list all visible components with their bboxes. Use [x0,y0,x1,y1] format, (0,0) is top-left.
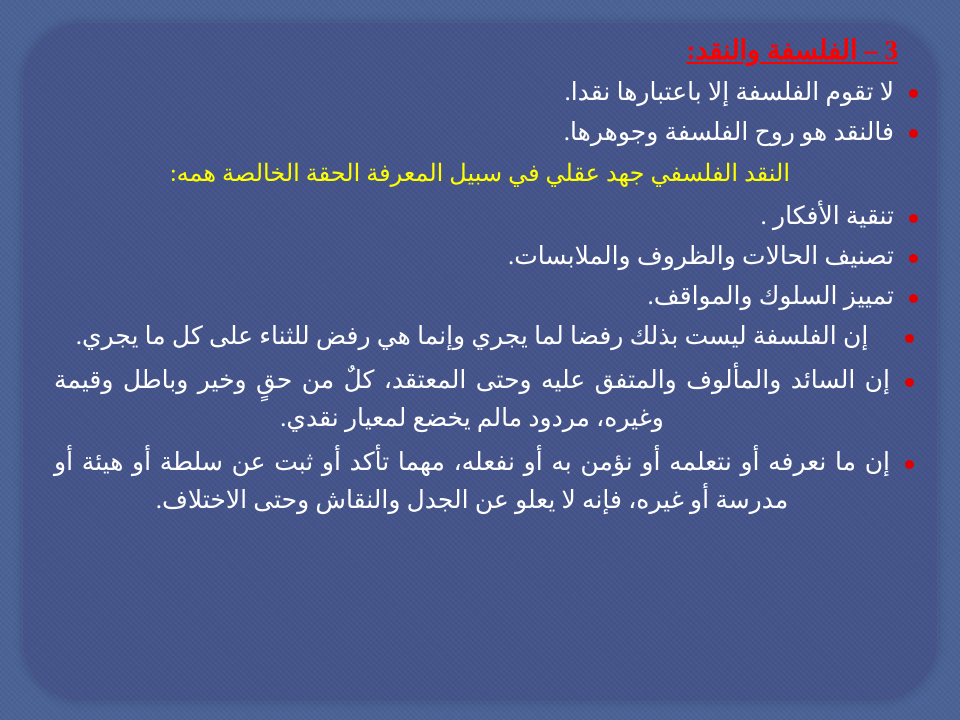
bullet-item: إن الفلسفة ليست بذلك رفضا لما يجري وإنما… [40,318,920,356]
bullet-item: تصنيف الحالات والظروف والملابسات. [40,238,920,276]
slide-title: 3 – الفلسفة والنقد: [40,36,898,66]
bullet-dot-icon [909,254,918,263]
lead-in-text: النقد الفلسفي جهد عقلي في سبيل المعرفة ا… [40,156,920,192]
bullet-item: إن ما نعرفه أو نتعلمه أو نؤمن به أو نفعل… [40,444,920,520]
bullet-item-label: فالنقد هو روح الفلسفة وجوهرها. [564,119,894,146]
bullet-item-label: إن السائد والمألوف والمتفق عليه وحتى الم… [54,367,890,432]
bullet-item: فالنقد هو روح الفلسفة وجوهرها. [40,114,920,152]
bullet-item: إن السائد والمألوف والمتفق عليه وحتى الم… [40,362,920,438]
bullet-item: تنقية الأفكار . [40,198,920,236]
bullet-dot-icon [909,89,918,98]
bullet-dot-icon [905,378,914,387]
bullet-dot-icon [909,129,918,138]
bullet-dot-icon [909,294,918,303]
bullet-item-label: تنقية الأفكار . [761,203,895,230]
bullet-item-label: لا تقوم الفلسفة إلا باعتبارها نقدا. [564,79,894,106]
bullet-item-label: النقد الفلسفي جهد عقلي في سبيل المعرفة ا… [170,161,790,187]
bullet-list: لا تقوم الفلسفة إلا باعتبارها نقدا.فالنق… [40,74,920,520]
bullet-item-label: إن الفلسفة ليست بذلك رفضا لما يجري وإنما… [76,323,869,350]
bullet-dot-icon [905,460,914,469]
bullet-dot-icon [909,214,918,223]
bullet-item: تمييز السلوك والمواقف. [40,278,920,316]
presentation-slide: 3 – الفلسفة والنقد: لا تقوم الفلسفة إلا … [0,0,960,720]
slide-content: 3 – الفلسفة والنقد: لا تقوم الفلسفة إلا … [0,0,960,720]
bullet-item-label: إن ما نعرفه أو نتعلمه أو نؤمن به أو نفعل… [54,449,890,514]
bullet-item-label: تمييز السلوك والمواقف. [648,283,894,310]
bullet-dot-icon [905,334,914,343]
bullet-item-label: تصنيف الحالات والظروف والملابسات. [508,243,894,270]
bullet-item: لا تقوم الفلسفة إلا باعتبارها نقدا. [40,74,920,112]
